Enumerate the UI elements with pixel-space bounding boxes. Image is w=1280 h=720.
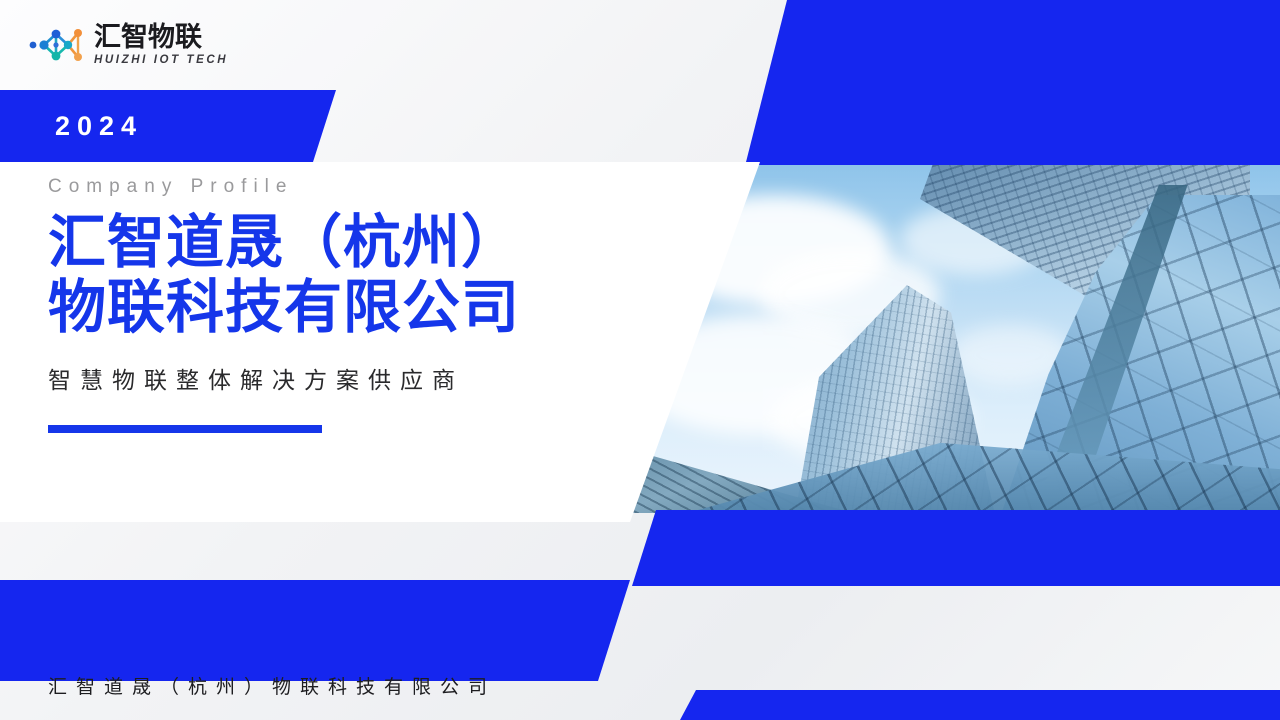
page-subtitle: 智慧物联整体解决方案供应商 <box>48 361 688 395</box>
under-image-blue-band <box>632 510 1280 586</box>
eyebrow-label: Company Profile <box>48 176 688 199</box>
logo-english-name: HUIZHI IOT TECH <box>94 55 228 67</box>
top-right-blue-parallelogram <box>745 0 1280 166</box>
page-title-line-2: 物联科技有限公司 <box>48 276 688 341</box>
molecule-network-icon <box>28 21 86 69</box>
page-title-line-1: 汇智道晟（杭州） <box>48 211 688 276</box>
company-logo[interactable]: 汇智物联 HUIZHI IOT TECH <box>28 21 228 69</box>
cover-slide: 2024 汇智物联 HUIZHI IOT TECH Compan <box>0 0 1280 720</box>
footer-company-name: 汇智道晟（杭州）物联科技有限公司 <box>48 672 496 699</box>
year-label: 2024 <box>55 111 143 142</box>
bottom-right-blue-band <box>680 690 1280 720</box>
bottom-left-blue-band <box>0 580 630 681</box>
logo-chinese-name: 汇智物联 <box>94 24 228 51</box>
year-ribbon: 2024 <box>0 90 336 162</box>
logo-wordmark: 汇智物联 HUIZHI IOT TECH <box>94 24 228 67</box>
title-underline-rule <box>48 425 322 433</box>
title-block: Company Profile 汇智道晟（杭州） 物联科技有限公司 智慧物联整体… <box>48 176 688 433</box>
